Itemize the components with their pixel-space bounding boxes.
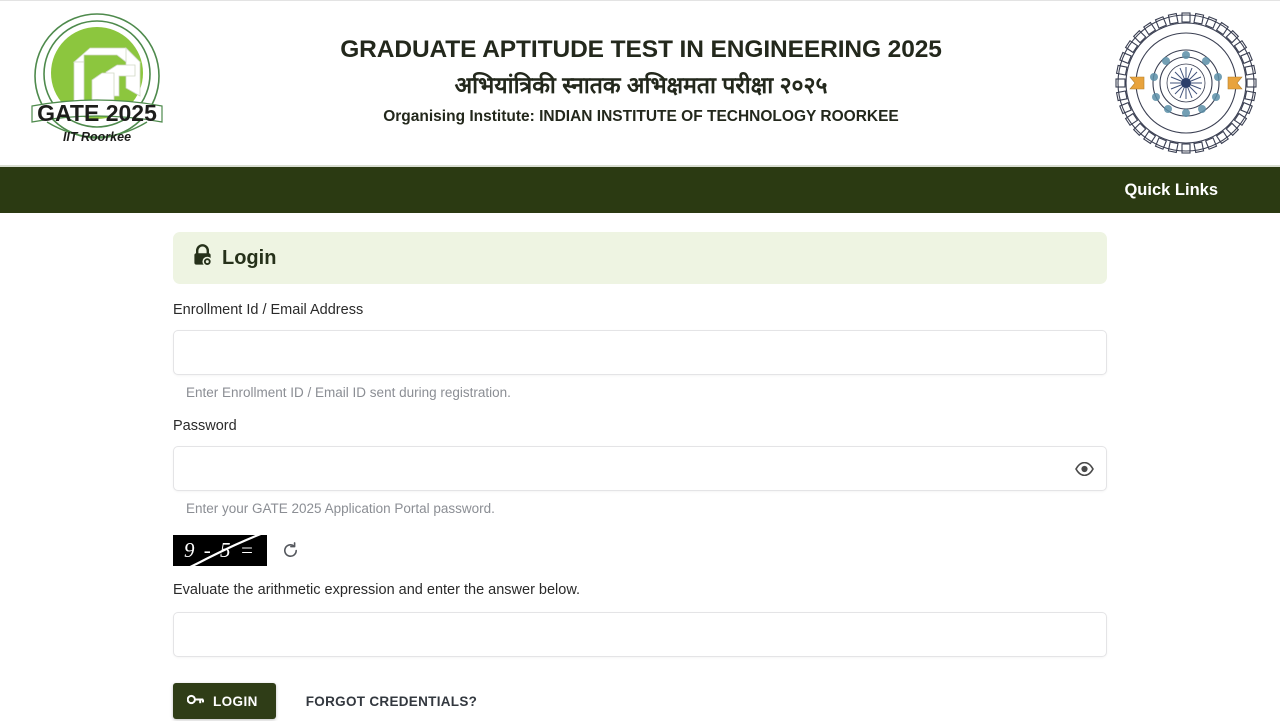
gate-logo-sub-text: IIT Roorkee [63, 130, 131, 144]
quick-links-menu[interactable]: Quick Links [1124, 181, 1218, 200]
enrollment-input-shell[interactable] [173, 330, 1107, 375]
navigation-bar: Quick Links [0, 165, 1280, 213]
captcha-input[interactable] [174, 613, 1106, 656]
eye-icon[interactable] [1073, 458, 1095, 480]
captcha-expression: 9 - 5 = [184, 538, 256, 563]
main-content: Login Enrollment Id / Email Address Ente… [0, 213, 1280, 719]
key-icon [187, 693, 204, 709]
captcha-input-shell[interactable] [173, 612, 1107, 657]
enrollment-field-block: Enrollment Id / Email Address Enter Enro… [173, 302, 1107, 400]
password-input[interactable] [174, 447, 1106, 490]
organising-institute-text: Organising Institute: INDIAN INSTITUTE O… [172, 108, 1110, 126]
gate-login-page: GATE 2025 IIT Roorkee GRADUATE APTITUDE … [0, 0, 1280, 721]
login-button-label: LOGIN [213, 694, 258, 709]
gate-logo-banner-text: GATE 2025 [37, 100, 157, 126]
lock-icon [192, 244, 213, 272]
enrollment-label: Enrollment Id / Email Address [173, 302, 1107, 318]
forgot-credentials-link[interactable]: FORGOT CREDENTIALS? [306, 694, 477, 709]
login-panel-title: Login [222, 247, 276, 270]
password-input-shell[interactable] [173, 446, 1107, 491]
login-form: Login Enrollment Id / Email Address Ente… [173, 232, 1107, 719]
enrollment-helper-text: Enter Enrollment ID / Email ID sent duri… [173, 385, 1107, 400]
password-field-block: Password Enter your GATE 2025 Applicatio… [173, 418, 1107, 516]
captcha-instruction: Evaluate the arithmetic expression and e… [173, 582, 1107, 598]
header-titles: GRADUATE APTITUDE TEST IN ENGINEERING 20… [172, 34, 1110, 132]
password-helper-text: Enter your GATE 2025 Application Portal … [173, 501, 1107, 516]
iit-roorkee-seal [1110, 7, 1262, 159]
enrollment-input[interactable] [174, 331, 1106, 374]
login-panel-header: Login [173, 232, 1107, 284]
page-header: GATE 2025 IIT Roorkee GRADUATE APTITUDE … [0, 1, 1280, 165]
form-actions: LOGIN FORGOT CREDENTIALS? [173, 683, 1107, 719]
captcha-row: 9 - 5 = [173, 535, 1107, 566]
page-title-hindi: अभियांत्रिकी स्नातक अभिक्षमता परीक्षा २०… [172, 69, 1110, 101]
captcha-image: 9 - 5 = [173, 535, 267, 566]
page-title-english: GRADUATE APTITUDE TEST IN ENGINEERING 20… [172, 34, 1110, 66]
gate-2025-logo: GATE 2025 IIT Roorkee [22, 10, 172, 156]
login-button[interactable]: LOGIN [173, 683, 276, 719]
refresh-icon[interactable] [279, 540, 301, 562]
password-label: Password [173, 418, 1107, 434]
